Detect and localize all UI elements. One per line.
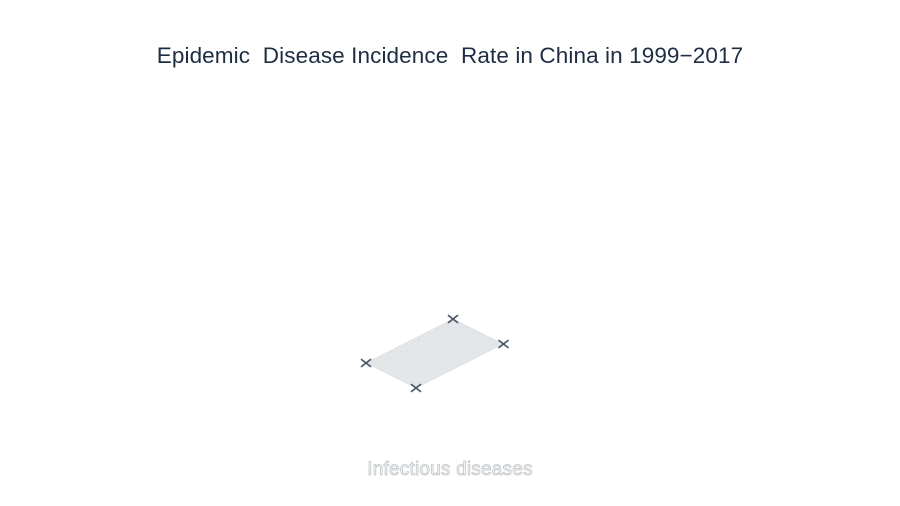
category-axis-label: Infectious diseases [0,459,900,481]
corner-marker-right [499,341,508,348]
page-title: Epidemic Disease Incidence Rate in China… [0,43,900,69]
corner-marker-top [449,316,458,323]
corner-markers [362,316,509,392]
corner-marker-bottom [412,385,421,392]
surface-plot-svg [0,0,900,506]
surface-plot-scene [0,0,900,506]
figure-canvas: Epidemic Disease Incidence Rate in China… [0,0,900,506]
surface-plane [366,319,503,388]
corner-marker-left [362,360,371,367]
